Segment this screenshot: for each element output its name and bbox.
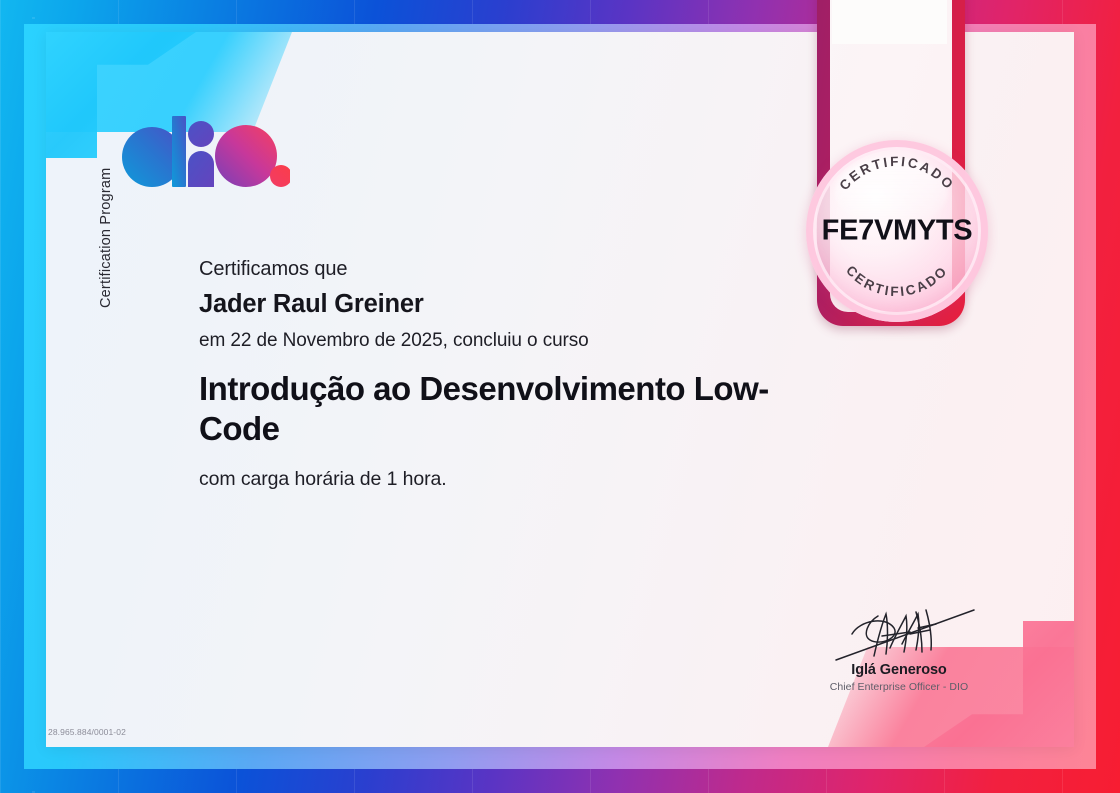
recipient-name: Jader Raul Greiner <box>199 290 819 319</box>
seal-arc-bottom-text: CERTIFICADO <box>843 263 951 299</box>
certificate: Certification Program Certificamos que J… <box>0 0 1120 793</box>
certificate-body: Certificamos que Jader Raul Greiner em 2… <box>199 258 819 491</box>
completion-date-line: em 22 de Novembro de 2025, concluiu o cu… <box>199 330 819 352</box>
seal-ribbon-notch <box>832 0 947 44</box>
workload-line: com carga horária de 1 hora. <box>199 468 819 491</box>
signature-block: Iglá Generoso Chief Enterprise Officer -… <box>804 604 994 693</box>
seal-arc-top-text: CERTIFICADO <box>836 154 957 193</box>
signer-role: Chief Enterprise Officer - DIO <box>804 681 994 693</box>
certificate-seal: CERTIFICADO CERTIFICADO FE7VMYTS <box>806 140 988 322</box>
signature-mark-icon <box>804 604 994 666</box>
dio-logo <box>118 106 290 188</box>
intro-line: Certificamos que <box>199 258 819 281</box>
seal-verification-code: FE7VMYTS <box>806 215 988 248</box>
course-title: Introdução ao Desenvolvimento Low-Code <box>199 369 799 450</box>
certification-program-label: Certification Program <box>98 138 124 308</box>
cnpj-text: 28.965.884/0001-02 <box>48 727 126 737</box>
